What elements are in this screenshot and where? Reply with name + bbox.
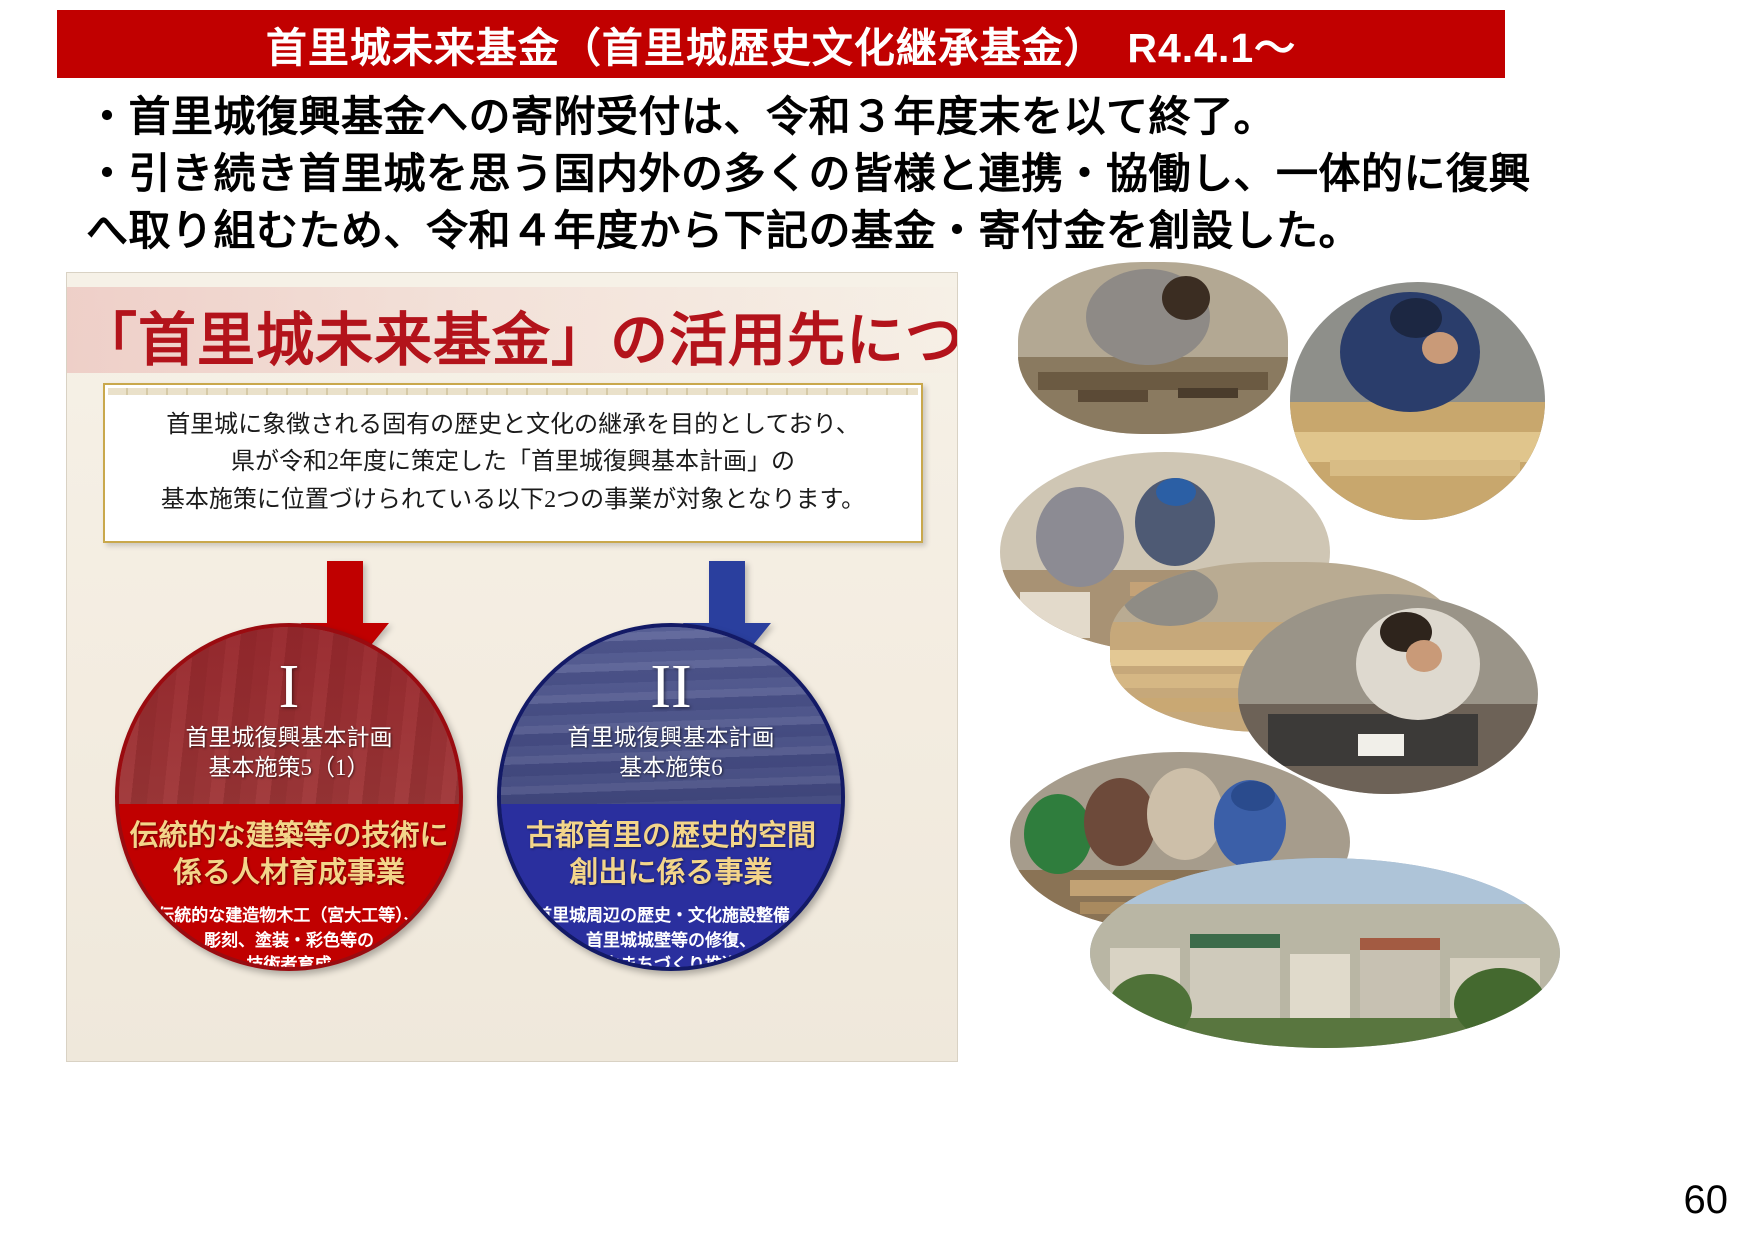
measure-circle-1-plan: 首里城復興基本計画 基本施策5（1） (186, 723, 393, 783)
panel-heading: 「首里城未来基金」の活用先について (79, 293, 958, 377)
measure-circle-2-main: 古都首里の歴史的空間 創出に係る事業 (526, 818, 816, 892)
measure-circle-1: I 首里城復興基本計画 基本施策5（1） 伝統的な建築等の技術に 係る人材育成事… (115, 623, 463, 971)
photo-aerial-view-of-shuri-townscape (1090, 858, 1560, 1048)
body-text-block: ・首里城復興基金への寄附受付は、令和３年度末を以て終了。 ・引き続き首里城を思う… (86, 88, 1506, 259)
measure-circle-2-top: II 首里城復興基本計画 基本施策6 (501, 627, 841, 804)
page-number: 60 (1684, 1178, 1729, 1223)
measure-circle-1-sub-line1: 伝統的な建造物木工（宮大工等）、 (157, 904, 421, 929)
measure-circle-2-plan-line1: 首里城復興基本計画 (568, 723, 775, 753)
measure-circle-2-plan: 首里城復興基本計画 基本施策6 (568, 723, 775, 783)
measure-circle-2-sub-line1: 首里城周辺の歴史・文化施設整備、 (535, 904, 807, 929)
measure-circle-2-sub-line2: 首里城城壁等の修復、 (535, 929, 807, 954)
page-title: 首里城未来基金（首里城歴史文化継承基金） R4.4.1～ (266, 14, 1296, 74)
measure-circle-1-main-line2: 係る人材育成事業 (129, 855, 448, 892)
body-line-3: へ取り組むため、令和４年度から下記の基金・寄付金を創設した。 (86, 202, 1506, 259)
description-line-3: 基本施策に位置づけられている以下2つの事業が対象となります。 (161, 482, 865, 519)
measure-circle-1-main-line1: 伝統的な建築等の技術に (129, 818, 448, 855)
photo-woodworker-bending-over-bench (1018, 262, 1288, 434)
measure-circle-1-top: I 首里城復興基本計画 基本施策5（1） (119, 627, 459, 804)
measure-circle-2-main-line2: 創出に係る事業 (526, 855, 816, 892)
measure-circle-2-roman: II (650, 658, 691, 717)
measure-circle-2-main-line1: 古都首里の歴史的空間 (526, 818, 816, 855)
measure-circle-1-roman: I (279, 658, 300, 717)
photo-artisan-carving-at-desk (1238, 594, 1538, 794)
fund-usage-panel: 「首里城未来基金」の活用先について 首里城に象徴される固有の歴史と文化の継承を目… (66, 272, 958, 1062)
measure-circle-1-plan-line2: 基本施策5（1） (186, 753, 393, 783)
measure-circle-2-sub: 首里城周辺の歴史・文化施設整備、 首里城城壁等の修復、 歴史まちづくり推進等 (535, 904, 807, 971)
slide-root: 首里城未来基金（首里城歴史文化継承基金） R4.4.1～ ・首里城復興基金への寄… (0, 0, 1754, 1241)
measure-circle-1-sub-line2: 彫刻、塗装・彩色等の (157, 929, 421, 954)
photo-collage (1000, 262, 1700, 1052)
measure-circle-1-plan-line1: 首里城復興基本計画 (186, 723, 393, 753)
measure-circle-1-main: 伝統的な建築等の技術に 係る人材育成事業 (129, 818, 448, 892)
body-line-1: ・首里城復興基金への寄附受付は、令和３年度末を以て終了。 (86, 88, 1506, 145)
slide-title-bar: 首里城未来基金（首里城歴史文化継承基金） R4.4.1～ (57, 10, 1505, 78)
measure-circle-1-bottom: 伝統的な建築等の技術に 係る人材育成事業 伝統的な建造物木工（宮大工等）、 彫刻… (119, 804, 459, 967)
body-line-2: ・引き続き首里城を思う国内外の多くの皆様と連携・協働し、一体的に復興 (86, 145, 1506, 202)
description-box: 首里城に象徴される固有の歴史と文化の継承を目的としており、 県が令和2年度に策定… (103, 383, 923, 543)
description-line-2: 県が令和2年度に策定した「首里城復興基本計画」の (231, 444, 795, 481)
photo-craftsman-planing-timber (1290, 282, 1545, 520)
measure-circle-2-plan-line2: 基本施策6 (568, 753, 775, 783)
measure-circle-2: II 首里城復興基本計画 基本施策6 古都首里の歴史的空間 創出に係る事業 首里… (497, 623, 845, 971)
description-line-1: 首里城に象徴される固有の歴史と文化の継承を目的としており、 (166, 407, 860, 444)
measure-circle-1-sub: 伝統的な建造物木工（宮大工等）、 彫刻、塗装・彩色等の 技術者育成 (157, 904, 421, 971)
measure-circle-2-bottom: 古都首里の歴史的空間 創出に係る事業 首里城周辺の歴史・文化施設整備、 首里城城… (501, 804, 841, 967)
